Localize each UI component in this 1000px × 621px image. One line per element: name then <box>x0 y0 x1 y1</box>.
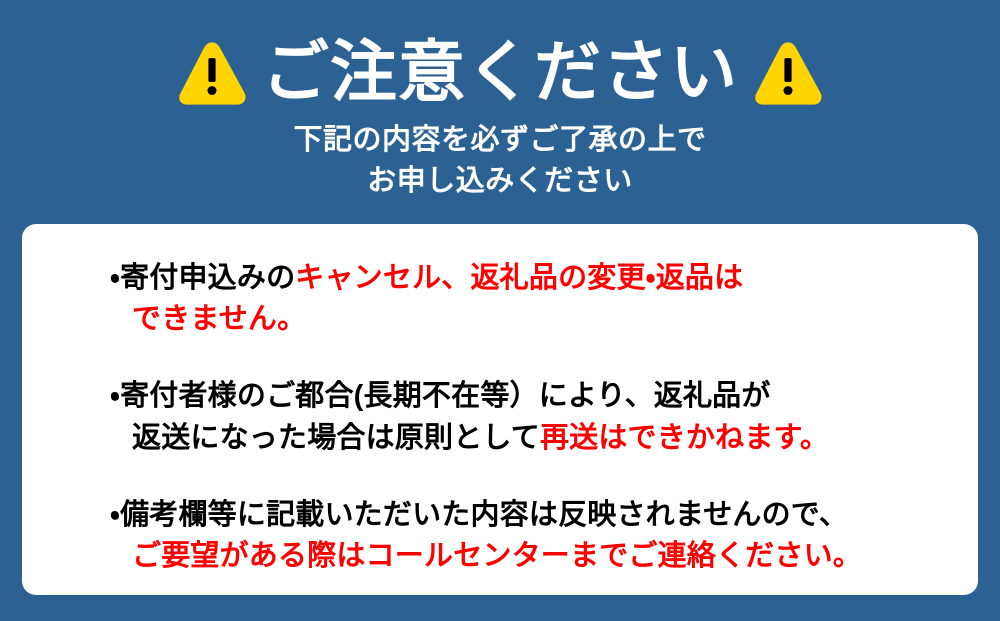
page-title: ご注意ください <box>262 39 738 110</box>
notice-line: ・寄付者様のご都合(長期不在等）により、返礼品が <box>110 376 938 417</box>
notice-bullet: ・ <box>110 499 120 531</box>
notice-line: 返送になった場合は原則として再送はできかねます。 <box>110 418 938 459</box>
notice-line: ・備考欄等に記載いただいた内容は反映されませんので、 <box>110 495 938 536</box>
notice-item: ・備考欄等に記載いただいた内容は反映されませんので、ご要望がある際はコールセンタ… <box>110 495 938 577</box>
notice-line: ご要望がある際はコールセンターまでご連絡ください。 <box>110 536 938 577</box>
notice-bullet: ・ <box>110 262 120 294</box>
notice-text-black: 寄付申込みの <box>120 262 295 294</box>
notice-list: ・寄付申込みのキャンセル、返礼品の変更・返品はできません。・寄付者様のご都合(長… <box>110 258 938 577</box>
subtitle-line-2: お申し込みください <box>0 161 1000 202</box>
subtitle-line-1: 下記の内容を必ずご了承の上で <box>0 120 1000 161</box>
notice-text-red: キャンセル、返礼品の変更・返品は <box>295 262 743 294</box>
notice-card: ・寄付申込みのキャンセル、返礼品の変更・返品はできません。・寄付者様のご都合(長… <box>22 224 978 595</box>
notice-banner: ご注意ください 下記の内容を必ずご了承の上で お申し込みください ・寄付申込みの… <box>0 0 1000 621</box>
notice-item: ・寄付申込みのキャンセル、返礼品の変更・返品はできません。 <box>110 258 938 340</box>
notice-text-red: できません。 <box>132 303 306 335</box>
banner-subtitle: 下記の内容を必ずご了承の上で お申し込みください <box>0 120 1000 202</box>
banner-header: ご注意ください 下記の内容を必ずご了承の上で お申し込みください <box>0 0 1000 218</box>
notice-item: ・寄付者様のご都合(長期不在等）により、返礼品が返送になった場合は原則として再送… <box>110 376 938 458</box>
notice-text-black: 寄付者様のご都合(長期不在等）により、返礼品が <box>120 380 771 412</box>
notice-text-black: 備考欄等に記載いただいた内容は反映されませんので、 <box>120 499 848 531</box>
notice-line: できません。 <box>110 299 938 340</box>
notice-bullet: ・ <box>110 380 120 412</box>
warning-triangle-icon <box>752 38 824 110</box>
notice-text-red: 再送はできかねます。 <box>540 422 829 454</box>
notice-text-black: 返送になった場合は原則として <box>132 422 540 454</box>
notice-text-red: ご要望がある際はコールセンターまでご連絡ください。 <box>132 540 862 572</box>
notice-line: ・寄付申込みのキャンセル、返礼品の変更・返品は <box>110 258 938 299</box>
warning-triangle-icon <box>176 38 248 110</box>
title-row: ご注意ください <box>0 30 1000 118</box>
